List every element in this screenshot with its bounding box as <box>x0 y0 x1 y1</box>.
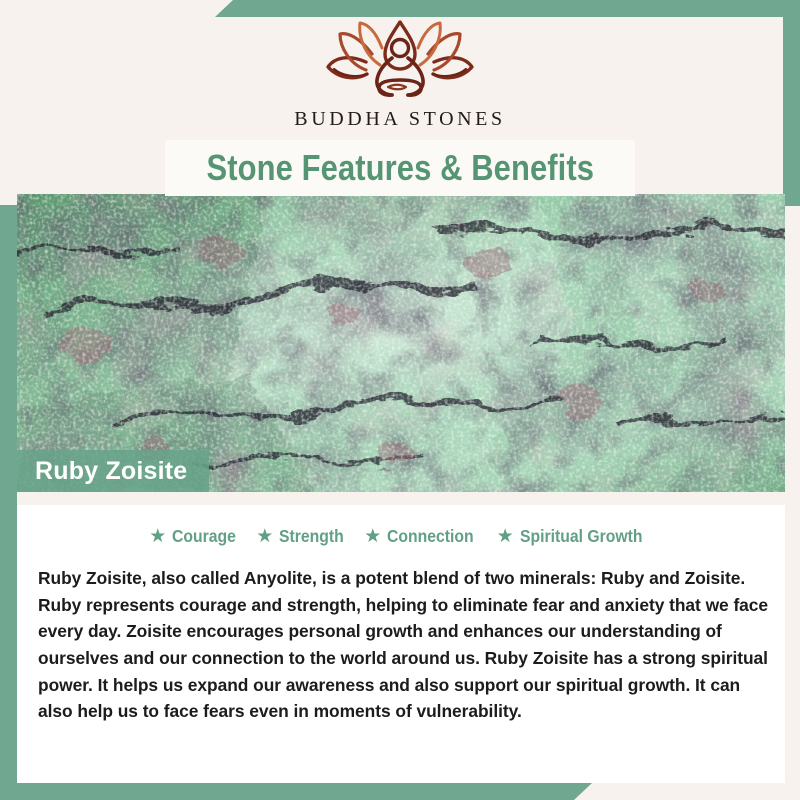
frame-accent-bottom-left <box>0 783 592 800</box>
benefit-item: ★ Strength <box>256 526 351 547</box>
stone-photo <box>17 194 785 492</box>
page-title: Stone Features & Benefits <box>206 147 594 189</box>
lotus-meditation-figure-icon <box>322 18 478 104</box>
star-icon: ★ <box>149 527 166 546</box>
star-icon: ★ <box>497 527 514 546</box>
benefit-label: Spiritual Growth <box>520 526 643 547</box>
title-banner: Stone Features & Benefits <box>165 140 635 196</box>
brand-logo: BUDDHA STONES <box>0 18 800 143</box>
brand-wordmark: BUDDHA STONES <box>294 108 505 131</box>
benefit-item: ★ Spiritual Growth <box>497 526 656 547</box>
stone-description: Ruby Zoisite, also called Anyolite, is a… <box>30 565 775 725</box>
frame-accent-left <box>0 205 17 783</box>
frame-accent-top-right <box>215 0 800 17</box>
stone-name-text: Ruby Zoisite <box>35 457 187 486</box>
benefit-label: Connection <box>387 526 474 547</box>
content-card: ★ Courage ★ Strength ★ Connection ★ Spir… <box>17 492 785 783</box>
benefit-label: Strength <box>279 526 344 547</box>
poster-root: BUDDHA STONES Stone Features & Benefits <box>0 0 800 800</box>
benefit-label: Courage <box>172 526 236 547</box>
star-icon: ★ <box>256 527 273 546</box>
benefits-row: ★ Courage ★ Strength ★ Connection ★ Spir… <box>30 526 775 547</box>
star-icon: ★ <box>364 527 381 546</box>
benefit-item: ★ Courage <box>149 526 243 547</box>
stone-name-label: Ruby Zoisite <box>17 450 209 492</box>
benefit-item: ★ Connection <box>364 526 483 547</box>
